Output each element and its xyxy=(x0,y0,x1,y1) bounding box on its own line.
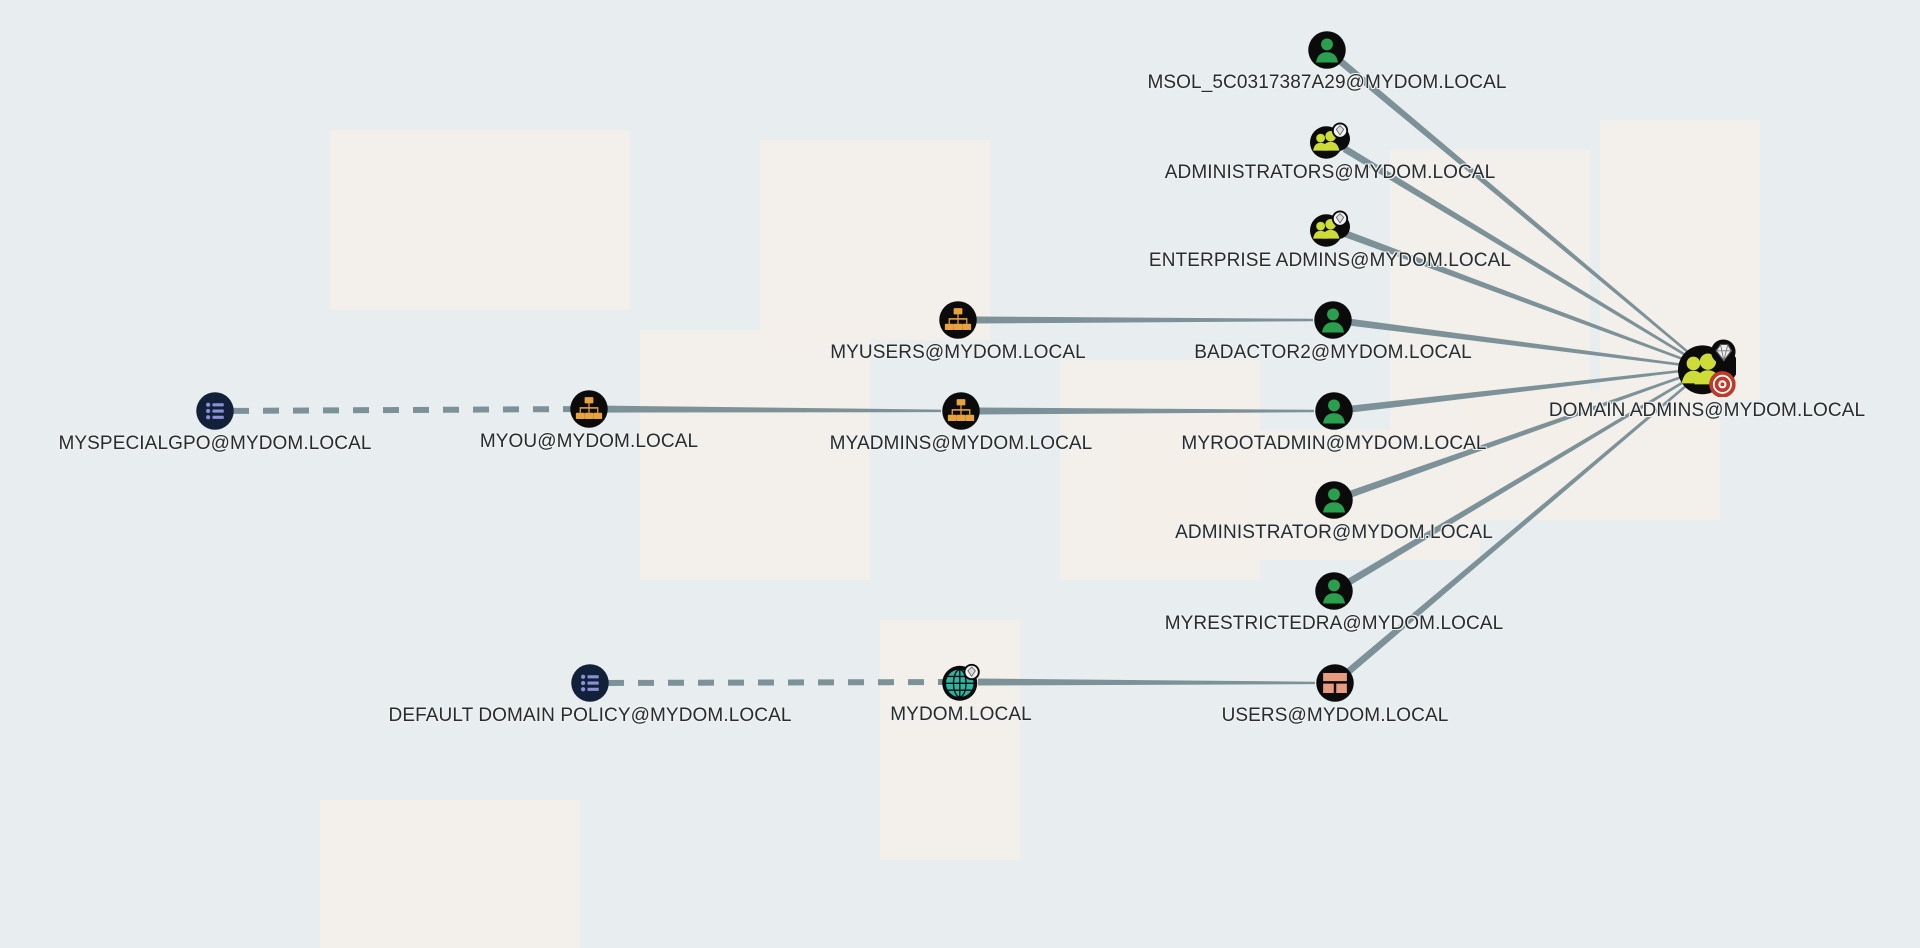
graph-edge-dashed xyxy=(608,682,943,683)
graph-node-label: MYUSERS@MYDOM.LOCAL xyxy=(830,342,1086,364)
user-icon[interactable] xyxy=(1313,300,1353,340)
ou-icon[interactable] xyxy=(938,300,978,340)
gpo-icon[interactable] xyxy=(570,663,610,703)
watermark-block xyxy=(640,330,870,580)
container-icon[interactable] xyxy=(1315,663,1355,703)
graph-node-label: ADMINISTRATORS@MYDOM.LOCAL xyxy=(1165,162,1496,184)
user-icon[interactable] xyxy=(1314,571,1354,611)
graph-node-label: MYRESTRICTEDRA@MYDOM.LOCAL xyxy=(1165,613,1504,635)
graph-edge-dashed xyxy=(233,409,571,411)
graph-node-label: ENTERPRISE ADMINS@MYDOM.LOCAL xyxy=(1149,250,1511,272)
watermark-block xyxy=(1060,360,1260,580)
watermark-block xyxy=(330,130,630,310)
graph-node-label: MSOL_5C0317387A29@MYDOM.LOCAL xyxy=(1147,72,1506,94)
graph-node-label: ADMINISTRATOR@MYDOM.LOCAL xyxy=(1175,522,1493,544)
graph-edge xyxy=(978,679,1315,686)
graph-edge xyxy=(606,406,941,413)
graph-node-label: MYADMINS@MYDOM.LOCAL xyxy=(830,433,1093,455)
ou-icon[interactable] xyxy=(569,389,609,429)
graph-node-label: MYOU@MYDOM.LOCAL xyxy=(480,431,698,453)
user-icon[interactable] xyxy=(1307,30,1347,70)
gpo-icon[interactable] xyxy=(195,391,235,431)
watermark-block xyxy=(880,620,1020,860)
graph-edge-thin xyxy=(1327,50,1707,368)
graph-node-label: DEFAULT DOMAIN POLICY@MYDOM.LOCAL xyxy=(388,705,791,727)
group-icon[interactable] xyxy=(1310,120,1350,160)
graph-edge xyxy=(978,408,1314,415)
graph-canvas[interactable]: MSOL_5C0317387A29@MYDOM.LOCALADMINISTRAT… xyxy=(0,0,1920,948)
graph-edges-layer xyxy=(0,0,1920,948)
graph-node-label: MYDOM.LOCAL xyxy=(890,704,1032,726)
watermark-block xyxy=(320,800,580,948)
group-icon[interactable] xyxy=(1310,208,1350,248)
user-icon[interactable] xyxy=(1314,391,1354,431)
graph-edge xyxy=(1338,58,1693,356)
domain-globe-icon[interactable] xyxy=(941,662,981,702)
graph-node-label: BADACTOR2@MYDOM.LOCAL xyxy=(1194,342,1472,364)
graph-node-label: DOMAIN ADMINS@MYDOM.LOCAL xyxy=(1549,400,1865,422)
graph-node-label: USERS@MYDOM.LOCAL xyxy=(1222,705,1449,727)
graph-edge xyxy=(975,317,1313,324)
user-icon[interactable] xyxy=(1314,480,1354,520)
graph-node-label: MYSPECIALGPO@MYDOM.LOCAL xyxy=(58,433,371,455)
graph-node-label: MYROOTADMIN@MYDOM.LOCAL xyxy=(1181,433,1486,455)
ou-icon[interactable] xyxy=(941,391,981,431)
group-highvalue-icon[interactable] xyxy=(1678,339,1736,397)
